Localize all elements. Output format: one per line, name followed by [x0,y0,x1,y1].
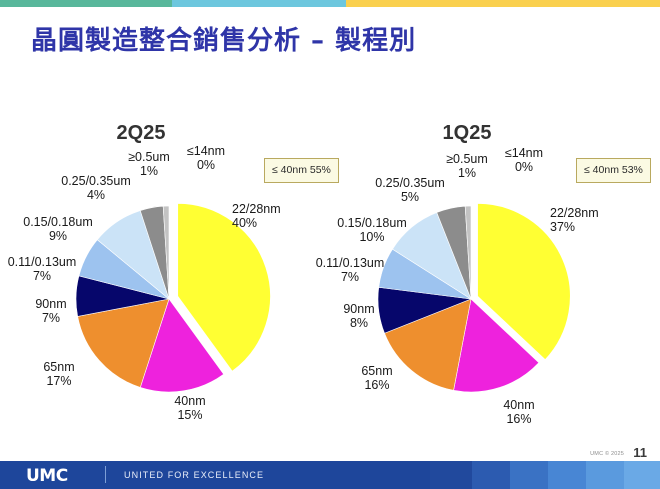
footer-grad-6 [624,461,660,489]
accent-segment-blue [172,0,346,7]
label-65nm-left: 65nm 17% [30,360,88,388]
accent-segment-green [0,0,172,7]
footer-grad-5 [586,461,624,489]
label-015-018um-left: 0.15/0.18um 9% [12,215,104,243]
footer-grad-3 [510,461,548,489]
label-90nm-right: 90nm 8% [332,302,386,330]
label-14nm-right: ≤14nm 0% [496,146,552,174]
top-accent-bar [0,0,660,7]
slide-canvas: 晶圓製造整合銷售分析 – 製程別 2Q25 22/28nm 40% 40nm 1… [0,0,660,489]
label-025-035um-left: 0.25/0.35um 4% [42,174,150,202]
page-number: 11 [633,445,647,460]
label-14nm-left: ≤14nm 0% [178,144,234,172]
page-title: 晶圓製造整合銷售分析 – 製程別 [31,20,416,57]
accent-segment-yellow [346,0,660,7]
copyright-text: UMC © 2025 [590,451,624,457]
label-05um-left: ≥0.5um 1% [118,150,180,178]
umc-logo: UMC [26,466,68,486]
footer-divider [105,466,106,483]
label-025-035um-right: 0.25/0.35um 5% [356,176,464,204]
footer-grad-2 [472,461,510,489]
footer-gradient [430,461,660,489]
label-90nm-left: 90nm 7% [24,297,78,325]
label-40nm-right: 40nm 16% [486,398,552,426]
label-05um-right: ≥0.5um 1% [436,152,498,180]
footer-tagline: UNITED FOR EXCELLENCE [124,470,264,480]
label-015-018um-right: 0.15/0.18um 10% [326,216,418,244]
pie-chart-2q25: 2Q25 22/28nm 40% 40nm 15% 65nm 17% 90nm … [0,112,330,442]
pie-chart-1q25: 1Q25 22/28nm 37% 40nm 16% 65nm 16% 90nm … [318,112,648,442]
callout-le40nm-right: ≤ 40nm 53% [576,158,651,183]
label-22-28nm-left: 22/28nm 40% [232,202,281,230]
label-65nm-right: 65nm 16% [348,364,406,392]
label-22-28nm-right: 22/28nm 37% [550,206,599,234]
label-011-013um-left: 0.11/0.13um 7% [0,255,88,283]
label-40nm-left: 40nm 15% [155,394,225,422]
footer-bar: UMC UNITED FOR EXCELLENCE [0,461,660,489]
footer-grad-1 [430,461,472,489]
label-011-013um-right: 0.11/0.13um 7% [304,256,396,284]
footer-grad-4 [548,461,586,489]
